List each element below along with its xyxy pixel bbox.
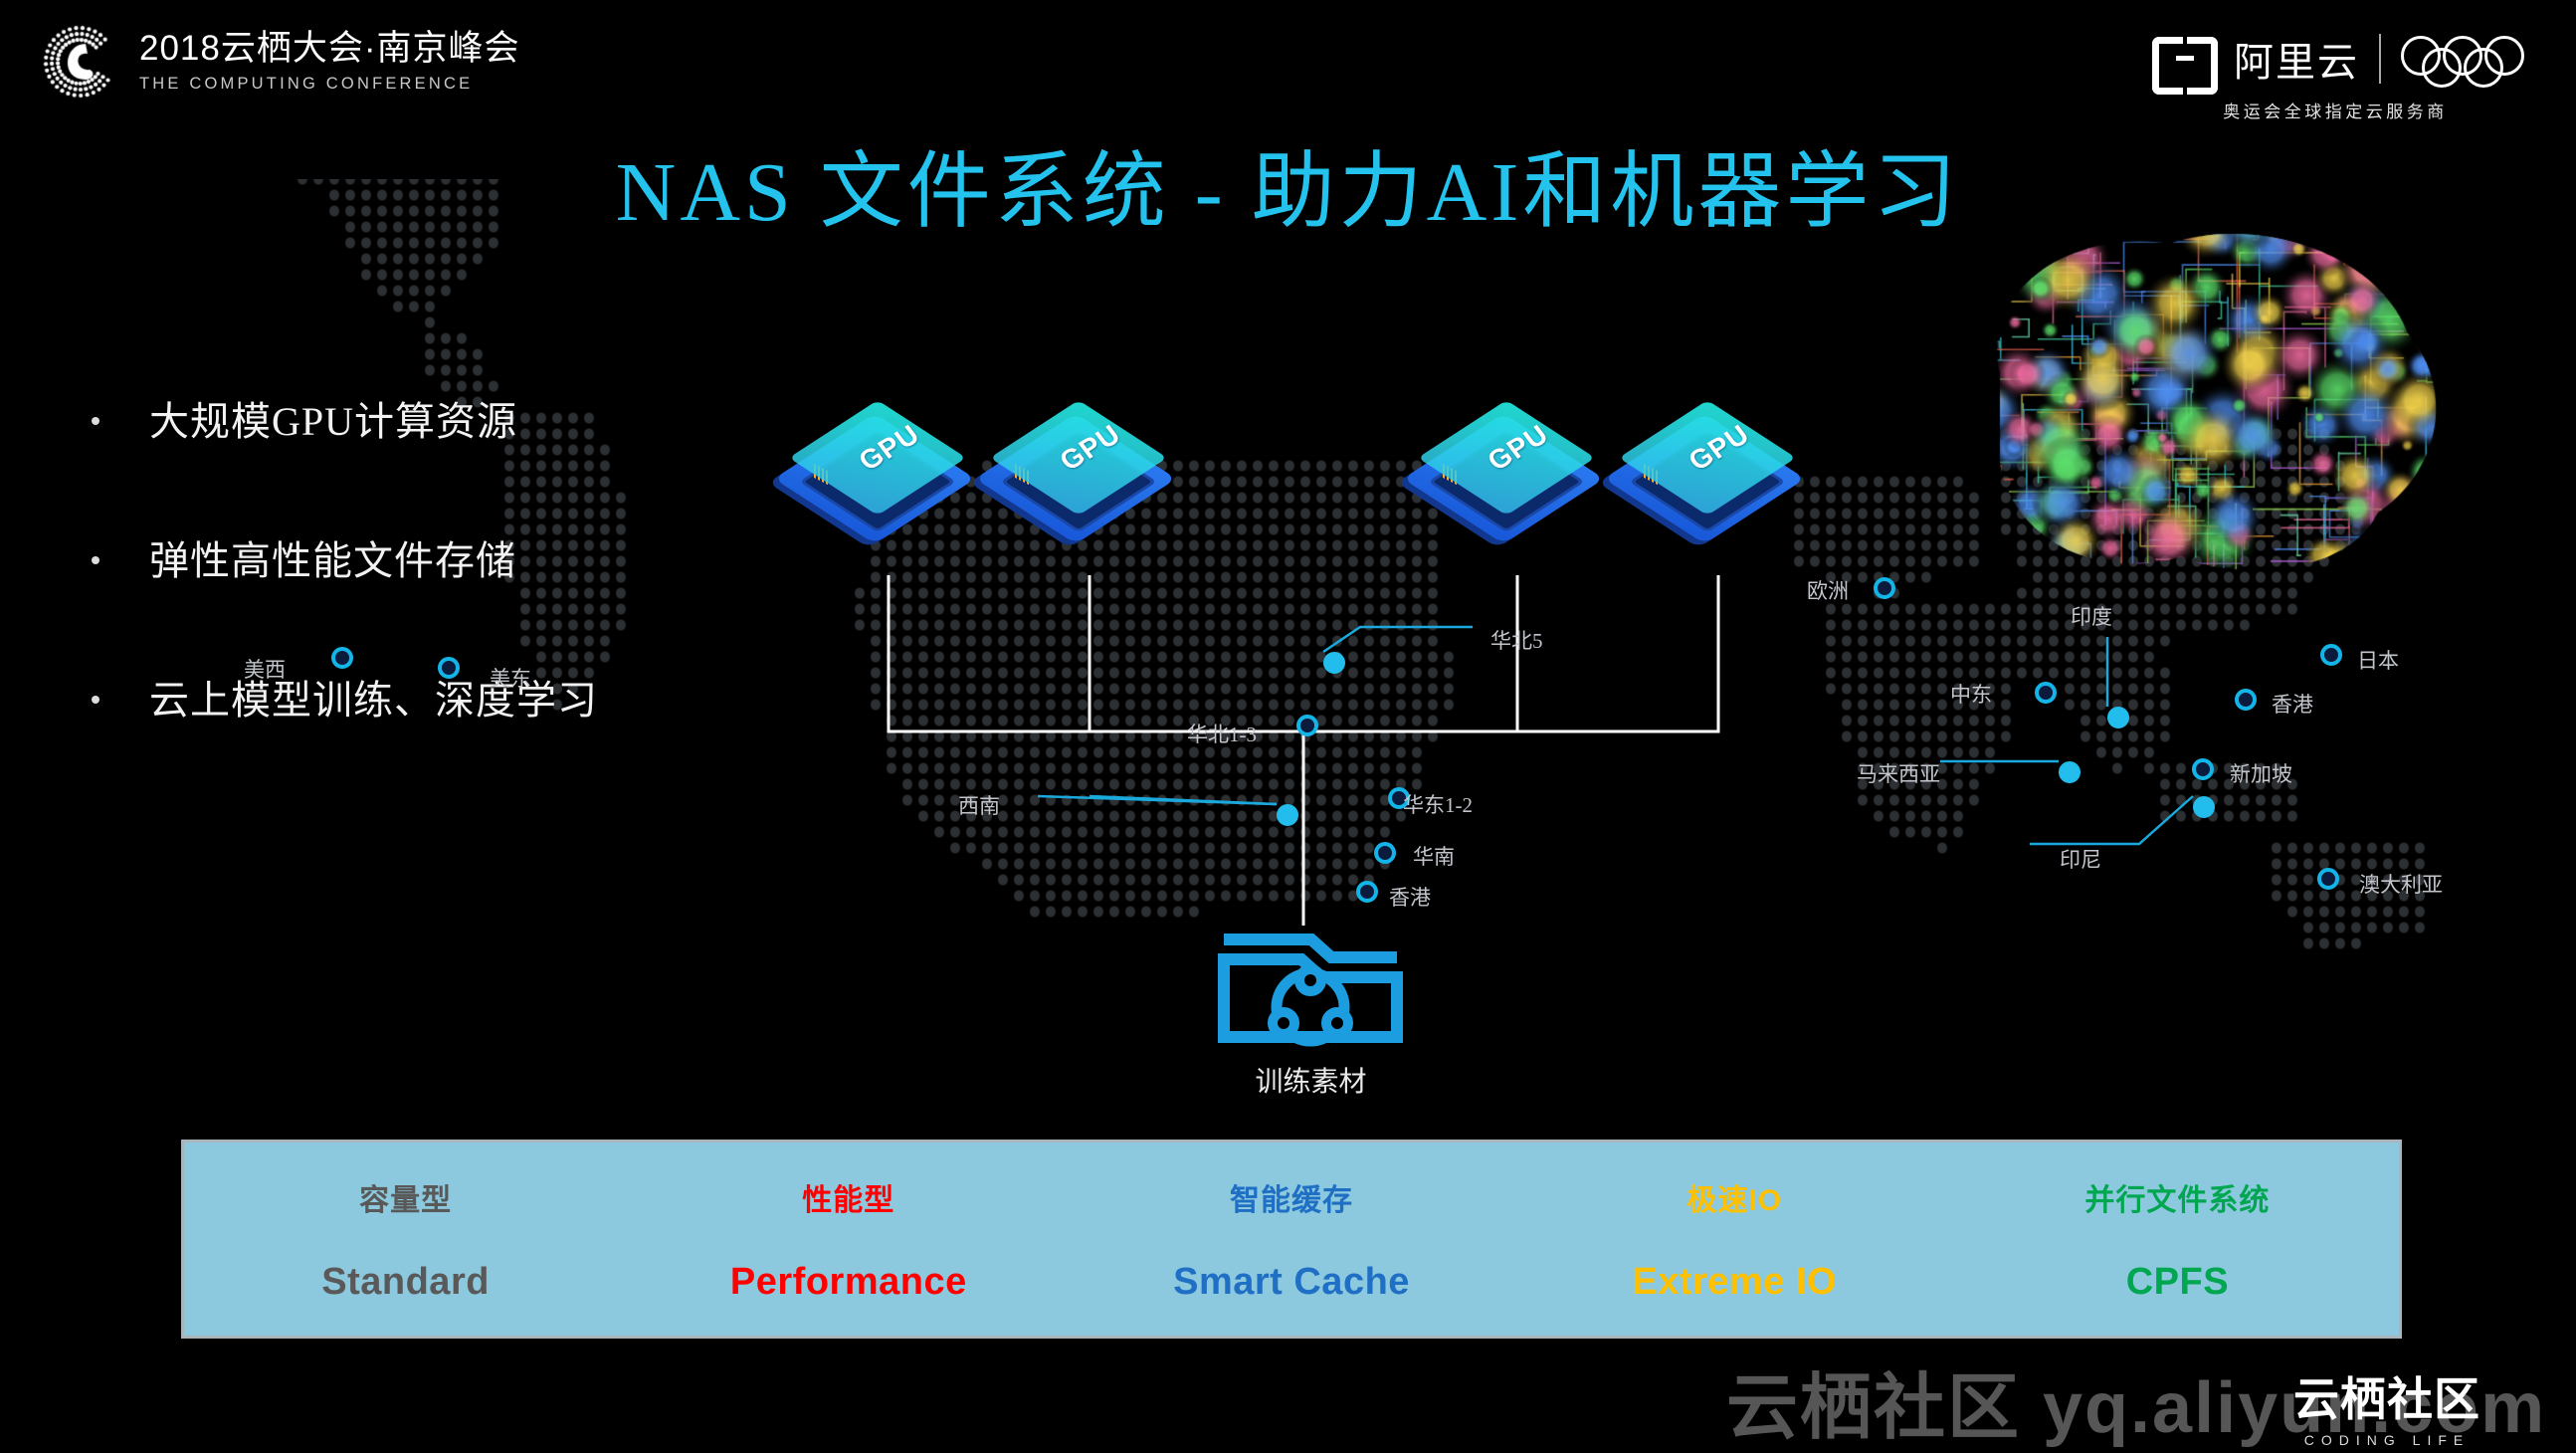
conference-title-cn: 2018云栖大会·南京峰会 <box>139 30 520 69</box>
region-label: 华东1-2 <box>1403 789 1473 819</box>
product-tier-en: Standard <box>184 1261 627 1304</box>
aliyun-brand-logo: 阿里云 奥运会全球指定云服务商 <box>2152 28 2518 122</box>
region-marker-global <box>2317 868 2339 890</box>
aliyun-brand-name: 阿里云 <box>2234 30 2359 88</box>
product-tier-cn: 极速IO <box>1513 1175 1956 1219</box>
storage-label: 训练素材 <box>1174 1060 1448 1100</box>
region-marker-global <box>2235 689 2257 711</box>
region-label: 华北1-3 <box>1187 719 1257 748</box>
gpu-chip-icon: GPU <box>1425 406 1624 530</box>
region-label: 香港 <box>1389 882 1431 912</box>
region-label: 澳大利亚 <box>2359 869 2443 899</box>
watermark-badge: 云栖社区 CODING LIFE <box>2293 1363 2480 1448</box>
product-tier-en: Extreme IO <box>1513 1261 1956 1304</box>
region-label: 美西 <box>244 654 286 684</box>
region-marker-global <box>2035 682 2057 704</box>
region-label: 印尼 <box>2060 844 2101 874</box>
brand-divider <box>2379 34 2381 84</box>
olympic-rings-icon <box>2401 36 2518 82</box>
region-marker-china <box>1277 804 1298 826</box>
region-marker-china <box>1356 881 1378 903</box>
product-tier-column: 性能型Performance <box>627 1175 1070 1304</box>
product-tier-column: 并行文件系统CPFS <box>1956 1175 2399 1304</box>
region-marker-global <box>2320 644 2342 666</box>
product-tier-cn: 并行文件系统 <box>1956 1175 2399 1219</box>
region-marker-global <box>331 647 353 669</box>
product-tier-column: 极速IOExtreme IO <box>1513 1175 1956 1304</box>
list-item: 云上模型训练、深度学习 <box>92 677 728 725</box>
product-tier-en: Smart Cache <box>1070 1261 1512 1304</box>
region-marker-global <box>1874 577 1895 599</box>
region-label: 日本 <box>2357 645 2399 675</box>
region-marker-china <box>1374 842 1396 864</box>
region-label: 华南 <box>1413 841 1455 871</box>
region-marker-global <box>438 657 460 679</box>
watermark-badge-text: 云栖社区 <box>2293 1363 2480 1429</box>
product-tier-bar: 容量型Standard性能型Performance智能缓存Smart Cache… <box>181 1140 2402 1339</box>
aliyun-tagline: 奥运会全球指定云服务商 <box>2152 98 2518 122</box>
bullet-dot-icon <box>92 696 99 704</box>
list-item: 大规模GPU计算资源 <box>92 398 728 446</box>
region-label: 华北5 <box>1490 625 1543 655</box>
watermark-badge-sub: CODING LIFE <box>2293 1432 2480 1448</box>
product-tier-cn: 智能缓存 <box>1070 1175 1512 1219</box>
slide-title: NAS 文件系统 - 助力AI和机器学习 <box>0 124 2576 245</box>
region-label: 新加坡 <box>2230 758 2292 788</box>
gpu-chip-icon: GPU <box>796 406 995 530</box>
region-label: 马来西亚 <box>1857 758 1940 788</box>
region-label: 香港 <box>2272 689 2313 719</box>
region-marker-global <box>2059 761 2081 783</box>
region-label: 西南 <box>958 790 1000 820</box>
region-marker-global <box>2107 707 2129 728</box>
bullet-dot-icon <box>92 556 99 564</box>
region-marker-china <box>1323 652 1345 674</box>
conference-logo: 2018云栖大会·南京峰会 THE COMPUTING CONFERENCE <box>42 24 520 100</box>
slide-root: 2018云栖大会·南京峰会 THE COMPUTING CONFERENCE 阿… <box>0 0 2576 1451</box>
aliyun-bracket-icon <box>2152 37 2218 81</box>
region-marker-global <box>2193 796 2215 818</box>
conference-dots-c-logo-icon <box>42 24 117 100</box>
product-tier-en: CPFS <box>1956 1261 2399 1304</box>
gpu-chip-icon: GPU <box>997 406 1196 530</box>
product-tier-en: Performance <box>627 1261 1070 1304</box>
region-label: 中东 <box>1950 679 1992 709</box>
region-label: 欧洲 <box>1807 575 1849 605</box>
product-tier-cn: 性能型 <box>627 1175 1070 1219</box>
product-tier-column: 智能缓存Smart Cache <box>1070 1175 1512 1304</box>
product-tier-column: 容量型Standard <box>184 1175 627 1304</box>
bullet-text: 弹性高性能文件存储 <box>149 537 516 585</box>
bullet-dot-icon <box>92 417 99 425</box>
product-tier-cn: 容量型 <box>184 1175 627 1219</box>
bullet-list: 大规模GPU计算资源 弹性高性能文件存储 云上模型训练、深度学习 <box>92 398 728 816</box>
shared-folder-icon <box>1216 926 1405 1055</box>
conference-title-en: THE COMPUTING CONFERENCE <box>139 75 520 94</box>
region-marker-china <box>1296 715 1318 736</box>
list-item: 弹性高性能文件存储 <box>92 537 728 585</box>
region-label: 美东 <box>490 663 531 693</box>
region-marker-global <box>2192 758 2214 780</box>
gpu-chip-icon: GPU <box>1626 406 1825 530</box>
bullet-text: 大规模GPU计算资源 <box>149 398 517 446</box>
region-label: 印度 <box>2071 601 2112 631</box>
